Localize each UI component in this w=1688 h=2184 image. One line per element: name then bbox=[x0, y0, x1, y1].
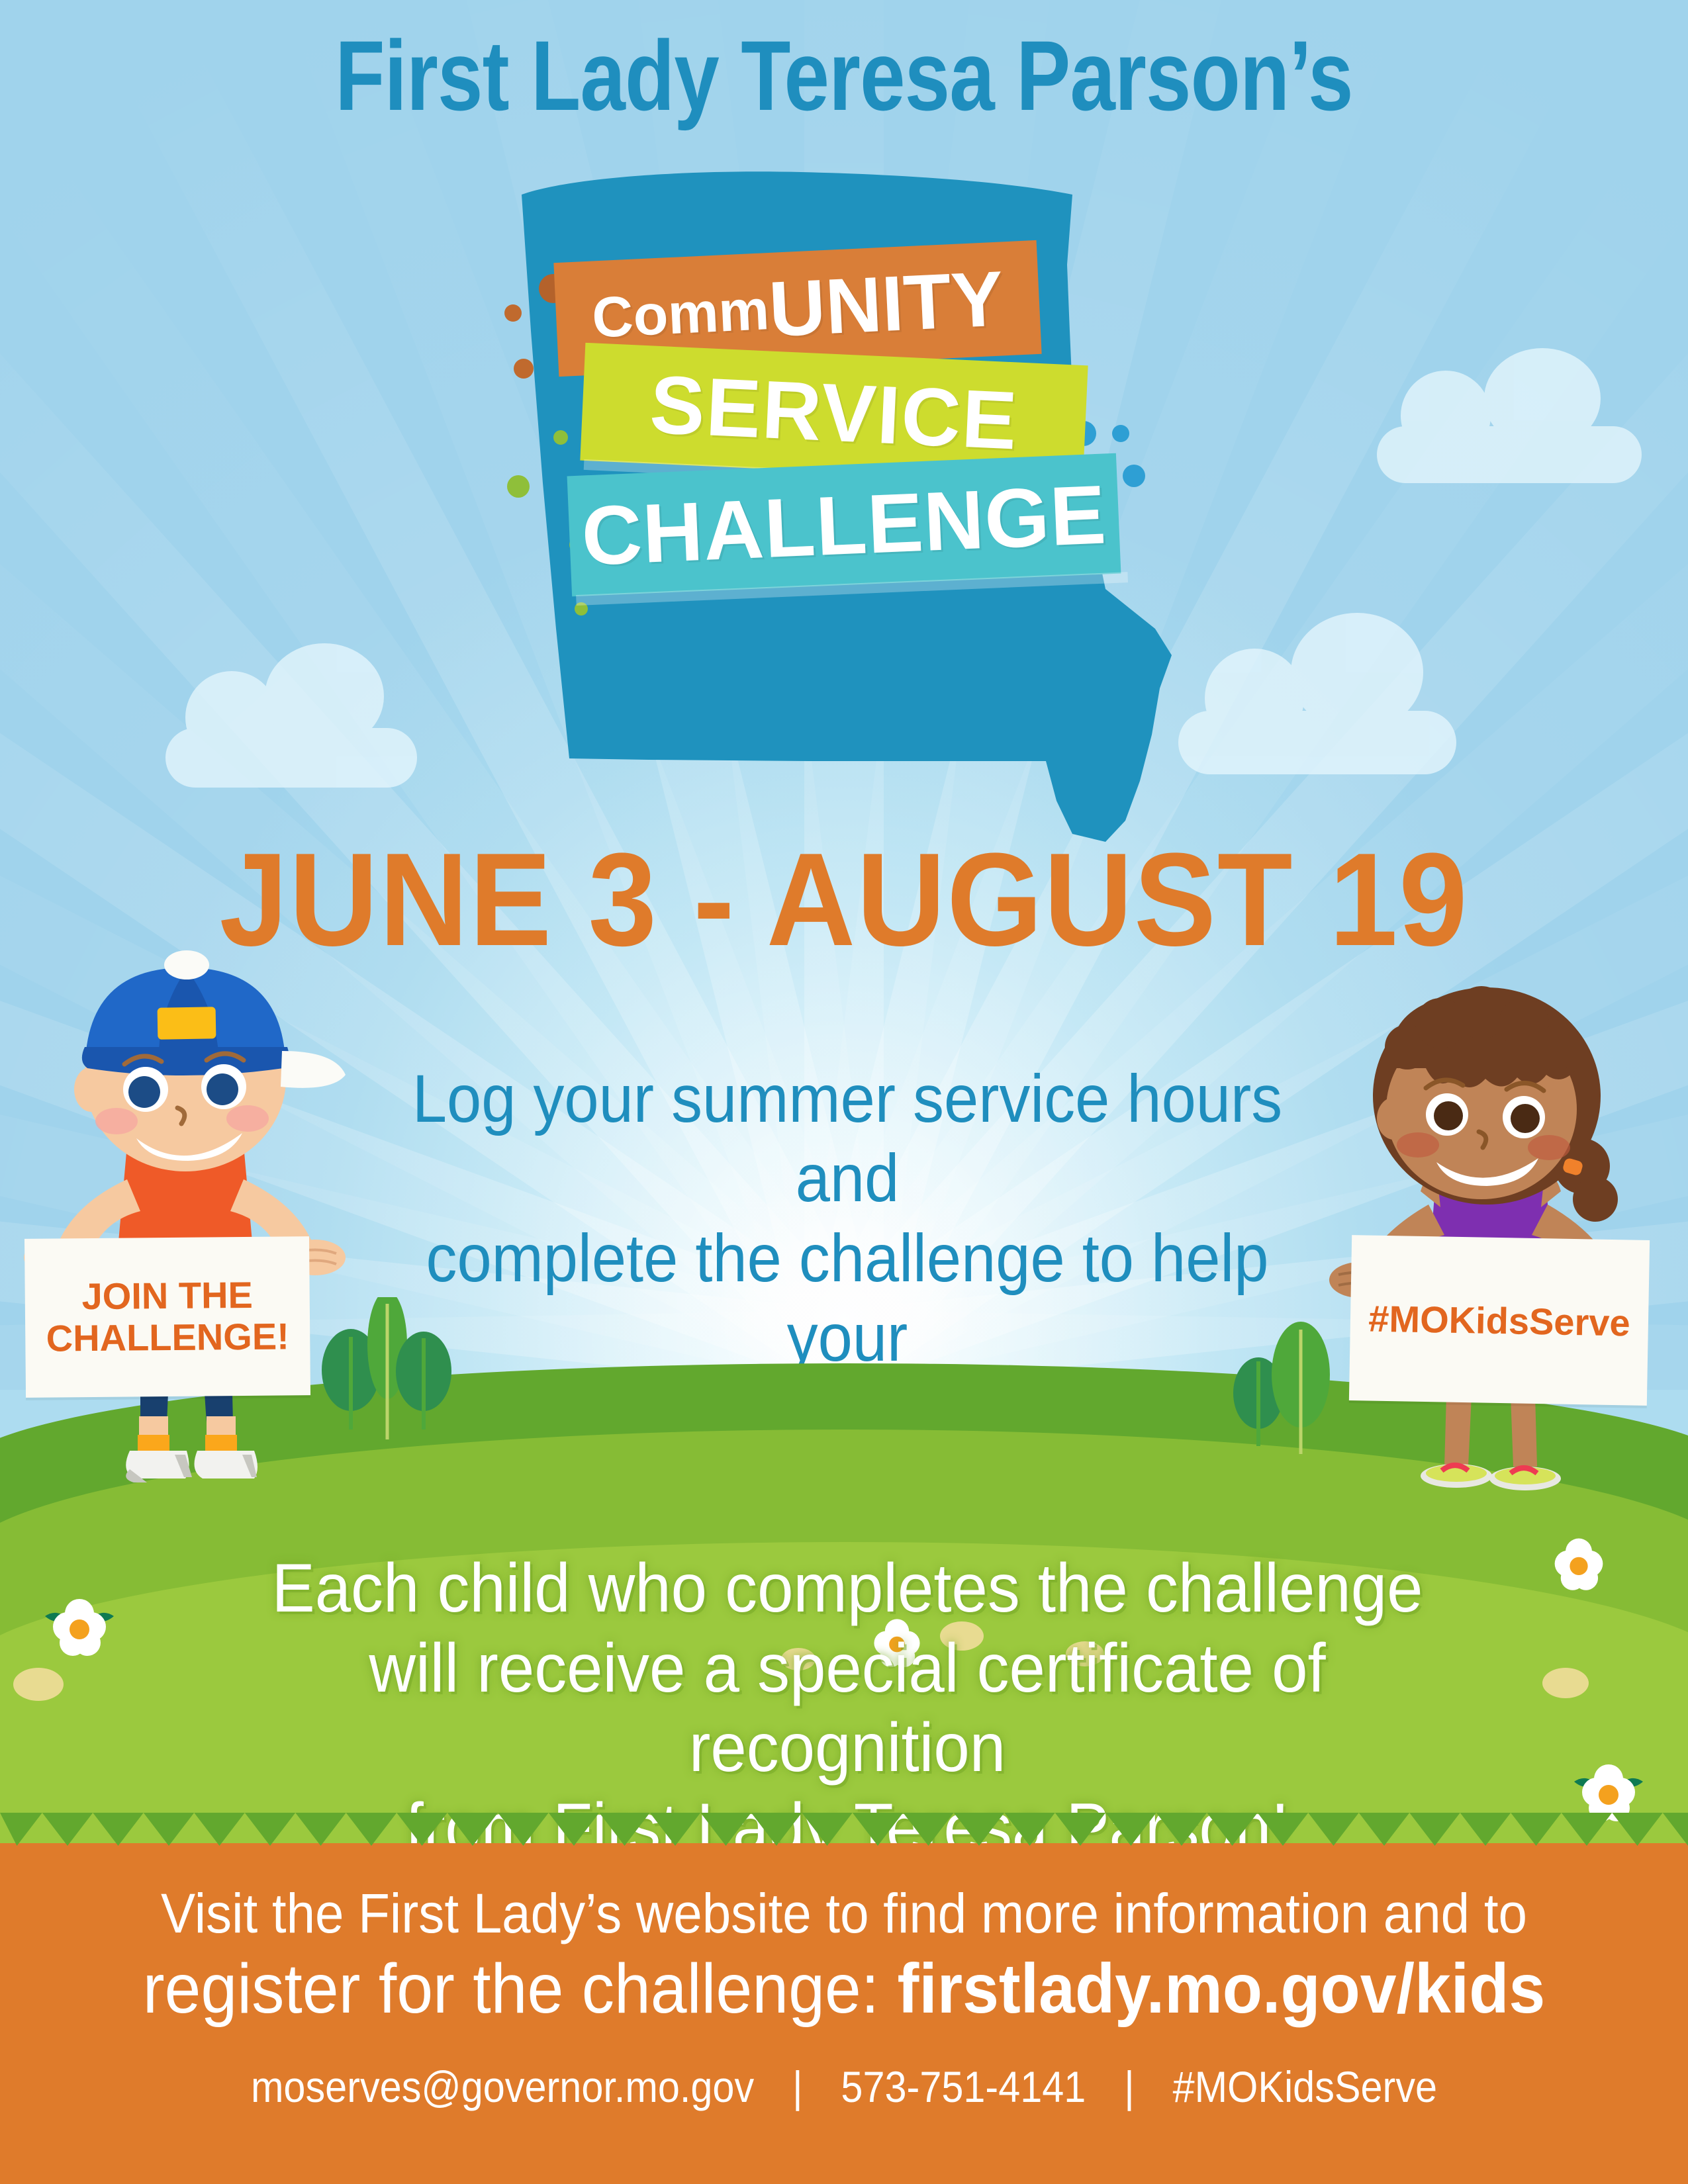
flower-icon bbox=[1542, 1529, 1615, 1595]
poster-root: First Lady Teresa Parson’s CommUNITY SER… bbox=[0, 0, 1688, 2184]
footer-email[interactable]: moserves@governor.mo.gov bbox=[251, 2062, 754, 2111]
challenge-logo: CommUNITY SERVICE CHALLENGE bbox=[490, 165, 1185, 847]
dot-decor bbox=[1123, 465, 1145, 487]
footer-url[interactable]: firstlady.mo.gov/kids bbox=[898, 1950, 1546, 2028]
footer-separator: | bbox=[1097, 2062, 1162, 2111]
footer-line-1: Visit the First Lady’s website to find m… bbox=[59, 1882, 1629, 1946]
grass-blob bbox=[13, 1668, 64, 1701]
dot-decor bbox=[504, 304, 522, 322]
dot-decor bbox=[1112, 425, 1129, 442]
footer-line-2-prefix: register for the challenge: bbox=[143, 1950, 898, 2028]
grass-blob bbox=[1542, 1668, 1589, 1698]
dot-decor bbox=[514, 359, 534, 379]
green-line-1: Each child who completes the challenge bbox=[225, 1549, 1470, 1629]
logo-text-challenge: CHALLENGE bbox=[580, 466, 1108, 584]
logo-text-service: SERVICE bbox=[648, 357, 1020, 468]
logo-text-unity: UNITY bbox=[767, 253, 1006, 355]
dot-decor bbox=[553, 430, 568, 445]
intro-line-1: Log your summer service hours and bbox=[360, 1059, 1335, 1218]
page-title: First Lady Teresa Parson’s bbox=[152, 19, 1536, 133]
footer-phone[interactable]: 573-751-4141 bbox=[841, 2062, 1086, 2111]
cloud-right bbox=[1178, 649, 1456, 774]
dot-decor bbox=[507, 475, 530, 498]
footer-line-2: register for the challenge: firstlady.mo… bbox=[59, 1949, 1629, 2029]
cloud-upper-right bbox=[1377, 371, 1642, 483]
logo-banner-challenge: CHALLENGE bbox=[567, 453, 1121, 597]
cloud-left bbox=[165, 668, 417, 788]
green-line-2: will receive a special certificate of re… bbox=[225, 1629, 1470, 1788]
intro-line-2: complete the challenge to help your bbox=[360, 1218, 1335, 1378]
sign-left-line2: CHALLENGE! bbox=[46, 1316, 289, 1359]
sign-hashtag: #MOKidsServe bbox=[1349, 1235, 1650, 1406]
sign-right-text: #MOKidsServe bbox=[1368, 1297, 1630, 1344]
logo-text-comm: Comm bbox=[590, 277, 771, 351]
sign-join-challenge: JOIN THE CHALLENGE! bbox=[24, 1236, 310, 1398]
footer-separator: | bbox=[765, 2062, 830, 2111]
flower-icon bbox=[40, 1588, 119, 1661]
sign-left-line1: JOIN THE bbox=[46, 1275, 289, 1318]
footer-band: Visit the First Lady’s website to find m… bbox=[0, 1843, 1688, 2184]
footer-hashtag: #MOKidsServe bbox=[1173, 2062, 1437, 2111]
footer-contact-row: moserves@governor.mo.gov | 573-751-4141 … bbox=[85, 2062, 1604, 2112]
